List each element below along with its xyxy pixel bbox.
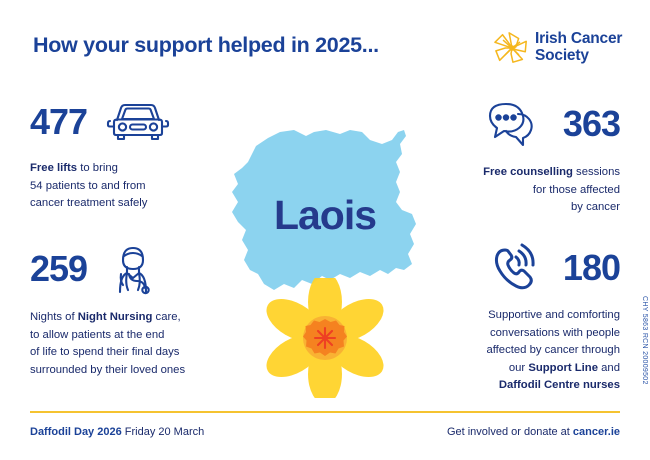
infographic-page: How your support helped in 2025... Ir (0, 0, 650, 460)
stat-headline-nursing: 259 (30, 243, 185, 295)
stat-headline-counselling: 363 (483, 100, 620, 148)
county-map-group: Laois (210, 118, 440, 403)
daffodil-flower-icon (265, 278, 385, 398)
desc-line: by cancer (483, 199, 620, 217)
footer-donate-text: Get involved or donate at (447, 426, 573, 438)
stat-block-nursing: 259 Nights of Night Nursing care, to (30, 243, 185, 379)
footer-website-link[interactable]: cancer.ie (573, 426, 620, 438)
footer-event-date: Friday 20 March (122, 426, 205, 438)
footer: Daffodil Day 2026 Friday 20 March Get in… (0, 420, 650, 450)
stat-number-counselling: 363 (563, 106, 620, 142)
desc-line: Supportive and comforting (486, 307, 620, 325)
car-icon (105, 100, 171, 144)
phone-ringing-icon (491, 243, 547, 293)
stat-number-supportline: 180 (563, 250, 620, 286)
stat-block-supportline: 180 Supportive and comforting conversati… (486, 243, 620, 395)
stat-block-counselling: 363 Free counselling sessions for those … (483, 100, 620, 217)
stat-description-lifts: Free lifts to bring 54 patients to and f… (30, 160, 171, 213)
logo-wordmark: Irish Cancer Society (535, 30, 622, 64)
desc-line: 54 patients to and from (30, 178, 171, 196)
header: How your support helped in 2025... Ir (0, 0, 650, 90)
desc-line: our Support Line and (486, 360, 620, 378)
desc-line: Free lifts to bring (30, 160, 171, 178)
irish-cancer-society-logo[interactable]: Irish Cancer Society (493, 28, 623, 68)
desc-line: Free counselling sessions (483, 164, 620, 182)
desc-line: to allow patients at the end (30, 327, 185, 345)
desc-line: conversations with people (486, 325, 620, 343)
desc-line: Daffodil Centre nurses (486, 377, 620, 395)
desc-line: for those affected (483, 182, 620, 200)
stat-headline-supportline: 180 (486, 243, 620, 293)
stat-description-nursing: Nights of Night Nursing care, to allow p… (30, 309, 185, 379)
stat-block-lifts: 477 Free lifts to bring 54 patients (30, 100, 171, 213)
desc-line: Nights of Night Nursing care, (30, 309, 185, 327)
stat-description-counselling: Free counselling sessions for those affe… (483, 164, 620, 217)
map-county-label: Laois (210, 192, 440, 239)
stat-number-nursing: 259 (30, 251, 87, 287)
stat-description-supportline: Supportive and comforting conversations … (486, 307, 620, 395)
page-title: How your support helped in 2025... (33, 33, 379, 58)
desc-line: surrounded by their loved ones (30, 362, 185, 380)
footer-event-name: Daffodil Day 2026 (30, 426, 122, 438)
stat-headline-lifts: 477 (30, 100, 171, 144)
charity-registration-text: CHY 5863 RCN 20009502 (641, 296, 648, 385)
logo-line-1: Irish Cancer (535, 30, 622, 47)
desc-line: affected by cancer through (486, 342, 620, 360)
daffodil-logo-mark (493, 30, 531, 66)
logo-line-2: Society (535, 47, 622, 64)
stat-number-lifts: 477 (30, 104, 87, 140)
speech-bubbles-icon (485, 100, 547, 148)
desc-line: cancer treatment safely (30, 195, 171, 213)
desc-line: of life to spend their final days (30, 344, 185, 362)
nurse-icon (105, 243, 161, 295)
footer-event-info: Daffodil Day 2026 Friday 20 March (30, 426, 204, 438)
footer-divider (30, 411, 620, 413)
footer-donate-info[interactable]: Get involved or donate at cancer.ie (447, 426, 620, 438)
